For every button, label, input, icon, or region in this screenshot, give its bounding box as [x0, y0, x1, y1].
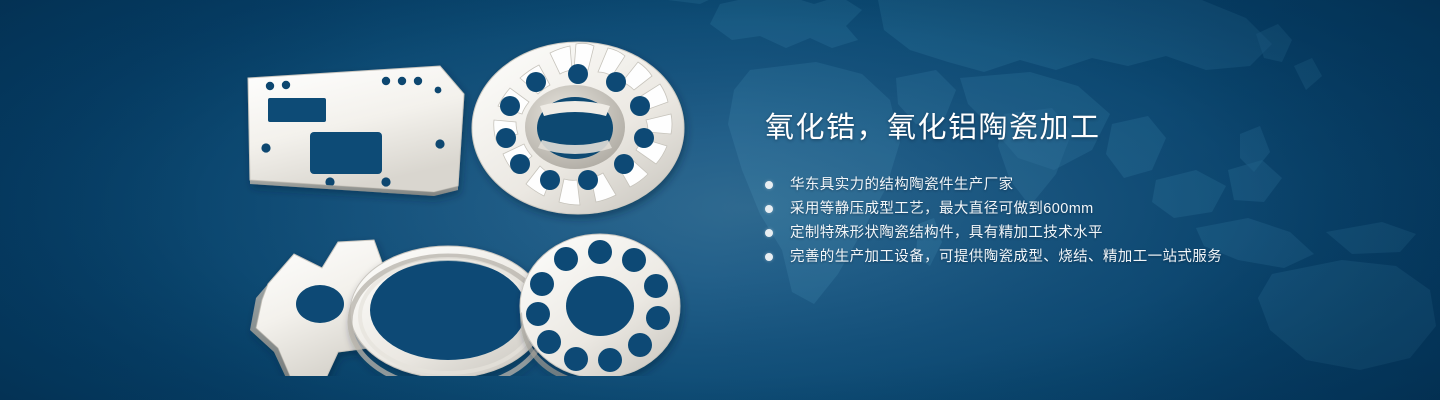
bullet-dot-icon	[765, 181, 773, 189]
hero-banner: 氧化锆，氧化铝陶瓷加工 华东具实力的结构陶瓷件生产厂家 采用等静压成型工艺，最大…	[0, 0, 1440, 400]
list-item: 华东具实力的结构陶瓷件生产厂家	[765, 173, 1365, 197]
bullet-dot-icon	[765, 205, 773, 213]
list-item-label: 定制特殊形状陶瓷结构件，具有精加工技术水平	[790, 225, 1103, 241]
ceramic-machined-plate	[248, 66, 464, 196]
ceramic-rings	[350, 246, 546, 376]
list-item: 定制特殊形状陶瓷结构件，具有精加工技术水平	[765, 221, 1365, 245]
feature-list: 华东具实力的结构陶瓷件生产厂家 采用等静压成型工艺，最大直径可做到600mm 定…	[765, 173, 1365, 269]
ceramic-impeller-disc	[472, 42, 684, 214]
list-item: 完善的生产加工设备，可提供陶瓷成型、烧结、精加工一站式服务	[765, 245, 1365, 269]
product-photo-cluster	[226, 36, 696, 376]
list-item: 采用等静压成型工艺，最大直径可做到600mm	[765, 197, 1365, 221]
list-item-label: 采用等静压成型工艺，最大直径可做到600mm	[790, 201, 1094, 217]
list-item-label: 完善的生产加工设备，可提供陶瓷成型、烧结、精加工一站式服务	[790, 249, 1222, 265]
page-title: 氧化锆，氧化铝陶瓷加工	[765, 108, 1365, 148]
list-item-label: 华东具实力的结构陶瓷件生产厂家	[790, 177, 1014, 193]
banner-copy: 氧化锆，氧化铝陶瓷加工 华东具实力的结构陶瓷件生产厂家 采用等静压成型工艺，最大…	[765, 108, 1365, 269]
bullet-dot-icon	[765, 229, 773, 237]
bullet-dot-icon	[765, 253, 773, 261]
ceramic-perforated-ring	[520, 234, 680, 376]
